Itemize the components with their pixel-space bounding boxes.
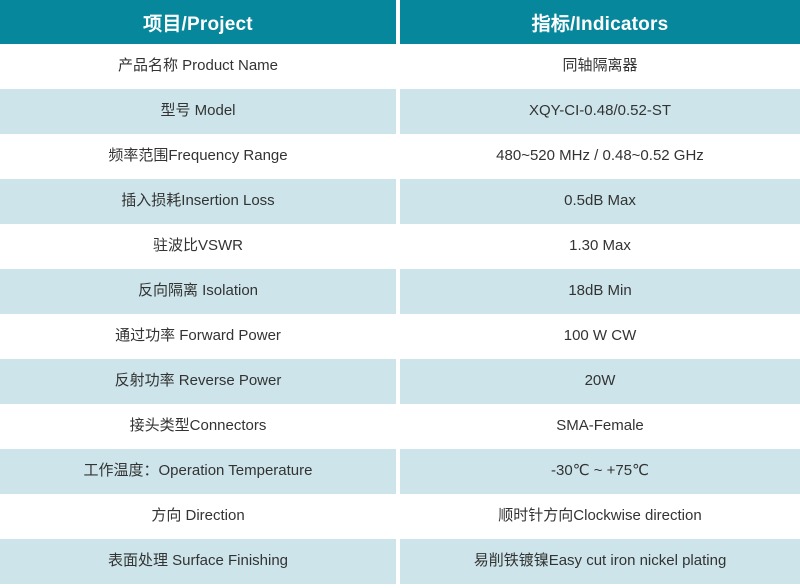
cell-indicator: 18dB Min xyxy=(400,269,800,314)
cell-indicator: 同轴隔离器 xyxy=(400,44,800,89)
cell-indicator: 易削铁镀镍Easy cut iron nickel plating xyxy=(400,539,800,584)
cell-project: 产品名称 Product Name xyxy=(0,44,400,89)
cell-project: 型号 Model xyxy=(0,89,400,134)
table-row: 反射功率 Reverse Power20W xyxy=(0,359,800,404)
column-header-indicators: 指标/Indicators xyxy=(400,0,800,44)
table-body: 产品名称 Product Name同轴隔离器型号 ModelXQY-CI-0.4… xyxy=(0,44,800,584)
table-row: 表面处理 Surface Finishing易削铁镀镍Easy cut iron… xyxy=(0,539,800,584)
table-header-row: 项目/Project 指标/Indicators xyxy=(0,0,800,44)
cell-project: 工作温度：Operation Temperature xyxy=(0,449,400,494)
cell-project: 反射功率 Reverse Power xyxy=(0,359,400,404)
cell-project: 通过功率 Forward Power xyxy=(0,314,400,359)
cell-project: 频率范围Frequency Range xyxy=(0,134,400,179)
cell-project: 表面处理 Surface Finishing xyxy=(0,539,400,584)
column-header-project: 项目/Project xyxy=(0,0,400,44)
cell-project: 反向隔离 Isolation xyxy=(0,269,400,314)
cell-project: 驻波比VSWR xyxy=(0,224,400,269)
table-row: 接头类型ConnectorsSMA-Female xyxy=(0,404,800,449)
table-row: 频率范围Frequency Range480~520 MHz / 0.48~0.… xyxy=(0,134,800,179)
cell-indicator: 1.30 Max xyxy=(400,224,800,269)
specification-table: 项目/Project 指标/Indicators 产品名称 Product Na… xyxy=(0,0,800,584)
cell-project: 接头类型Connectors xyxy=(0,404,400,449)
table-header: 项目/Project 指标/Indicators xyxy=(0,0,800,44)
cell-indicator: 顺时针方向Clockwise direction xyxy=(400,494,800,539)
cell-indicator: 100 W CW xyxy=(400,314,800,359)
cell-indicator: 0.5dB Max xyxy=(400,179,800,224)
cell-indicator: SMA-Female xyxy=(400,404,800,449)
cell-project: 方向 Direction xyxy=(0,494,400,539)
cell-project: 插入损耗Insertion Loss xyxy=(0,179,400,224)
table-row: 驻波比VSWR1.30 Max xyxy=(0,224,800,269)
table-row: 方向 Direction顺时针方向Clockwise direction xyxy=(0,494,800,539)
table-row: 产品名称 Product Name同轴隔离器 xyxy=(0,44,800,89)
table-row: 反向隔离 Isolation18dB Min xyxy=(0,269,800,314)
table-row: 工作温度：Operation Temperature-30℃ ~ +75℃ xyxy=(0,449,800,494)
cell-indicator: 480~520 MHz / 0.48~0.52 GHz xyxy=(400,134,800,179)
table-row: 型号 ModelXQY-CI-0.48/0.52-ST xyxy=(0,89,800,134)
table-row: 插入损耗Insertion Loss0.5dB Max xyxy=(0,179,800,224)
cell-indicator: -30℃ ~ +75℃ xyxy=(400,449,800,494)
cell-indicator: XQY-CI-0.48/0.52-ST xyxy=(400,89,800,134)
cell-indicator: 20W xyxy=(400,359,800,404)
table-row: 通过功率 Forward Power100 W CW xyxy=(0,314,800,359)
